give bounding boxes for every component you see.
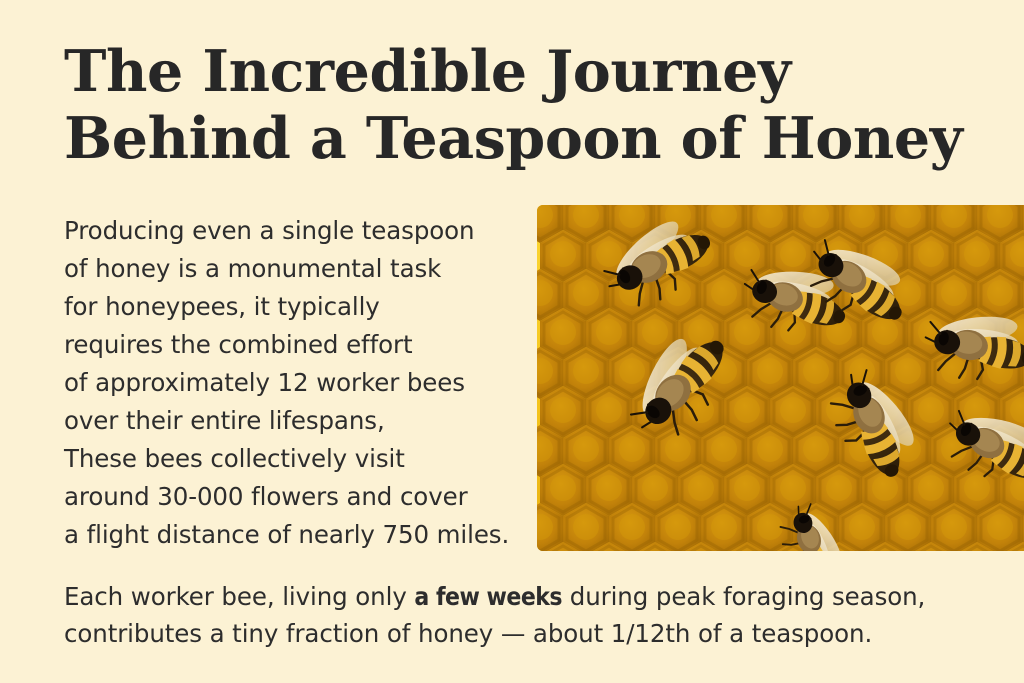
closing-paragraph: Each worker bee, living only a few weeks… [64, 578, 1004, 652]
closing-text-after: during peak foraging season, [562, 582, 925, 611]
body-line: over their entire lifespans, [64, 402, 516, 440]
closing-text-before: Each worker bee, living only [64, 582, 414, 611]
body-line: of approximately 12 worker bees [64, 364, 516, 402]
page-title-line-2: Behind a Teaspoon of Honey [64, 105, 994, 172]
page-title-line-1: The Incredible Journey [64, 38, 994, 105]
closing-line-1: Each worker bee, living only a few weeks… [64, 578, 1004, 615]
infographic-canvas: The Incredible Journey Behind a Teaspoon… [0, 0, 1024, 683]
body-line: of honey is a monumental task [64, 250, 516, 288]
body-line: around 30-000 flowers and cover [64, 478, 516, 516]
honeycomb-cells [537, 205, 1024, 551]
body-line: Producing even a single teaspoon [64, 212, 516, 250]
body-line: for honeypees, it typically [64, 288, 516, 326]
body-line: requires the combined effort [64, 326, 516, 364]
body-paragraph: Producing even a single teaspoon of hone… [64, 212, 516, 554]
body-line: a flight distance of nearly 750 miles. [64, 516, 516, 554]
page-title: The Incredible Journey Behind a Teaspoon… [64, 38, 994, 173]
closing-line-2: contributes a tiny fraction of honey — a… [64, 615, 1004, 652]
honeycomb-illustration [537, 205, 1024, 551]
body-line: These bees collectively visit [64, 440, 516, 478]
closing-emphasis-few-weeks: a few weeks [414, 582, 562, 611]
honeycomb-photo [537, 205, 1024, 551]
body-text-column: Producing even a single teaspoon of hone… [64, 212, 516, 554]
